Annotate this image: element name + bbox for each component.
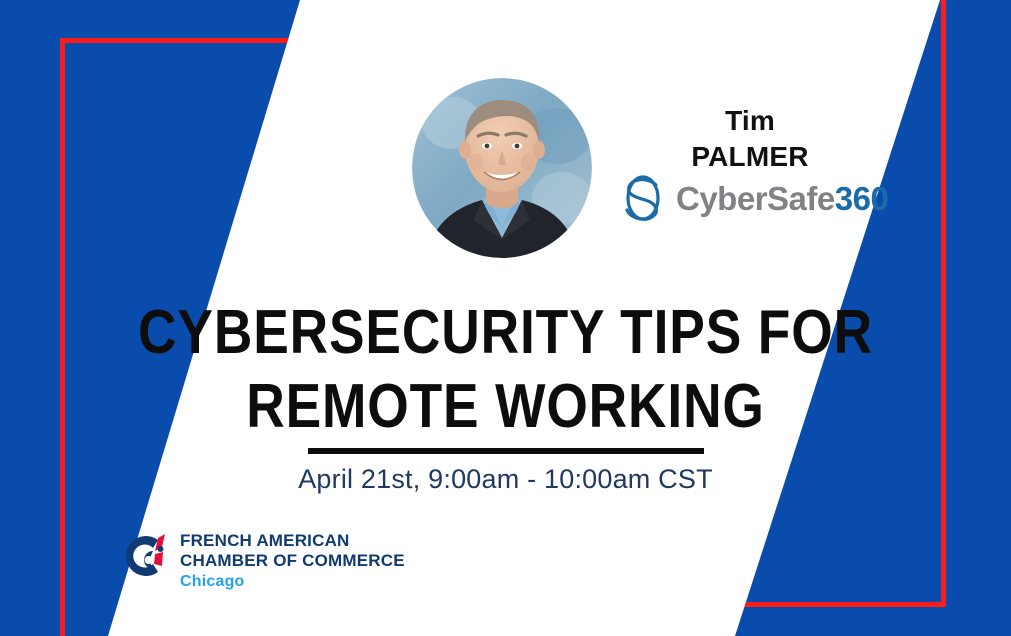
cybersafe-s-mark — [618, 172, 670, 224]
speaker-last-name: PALMER — [640, 139, 860, 175]
speaker-first-name: Tim — [640, 103, 860, 139]
speaker-name-block: Tim PALMER — [640, 103, 860, 175]
speaker-portrait — [412, 78, 592, 258]
cybersafe-word-secondary: 360 — [835, 180, 889, 217]
facc-logo: FRENCH AMERICAN CHAMBER OF COMMERCE Chic… — [118, 528, 405, 593]
facc-cc-mark — [118, 530, 170, 582]
headline-line-1: CYBERSECURITY TIPS FOR — [71, 296, 940, 370]
portrait-photo — [412, 78, 592, 258]
headline-underline — [308, 448, 704, 454]
facc-text-block: FRENCH AMERICAN CHAMBER OF COMMERCE Chic… — [180, 528, 405, 593]
event-promo-poster: Tim PALMER CyberSafe360 CYBERSECURITY TI… — [0, 0, 1011, 636]
cybersafe360-logo: CyberSafe360 — [618, 172, 888, 224]
event-datetime: April 21st, 9:00am - 10:00am CST — [0, 462, 1011, 496]
cybersafe-wordmark: CyberSafe360 — [676, 182, 888, 215]
page-title: CYBERSECURITY TIPS FOR REMOTE WORKING — [0, 296, 1011, 454]
facc-line-2: CHAMBER OF COMMERCE — [180, 551, 405, 571]
facc-line-1: FRENCH AMERICAN — [180, 531, 405, 551]
cybersafe-word-primary: CyberSafe — [676, 180, 835, 217]
headline-line-2: REMOTE WORKING — [71, 370, 940, 444]
facc-city: Chicago — [180, 571, 405, 593]
